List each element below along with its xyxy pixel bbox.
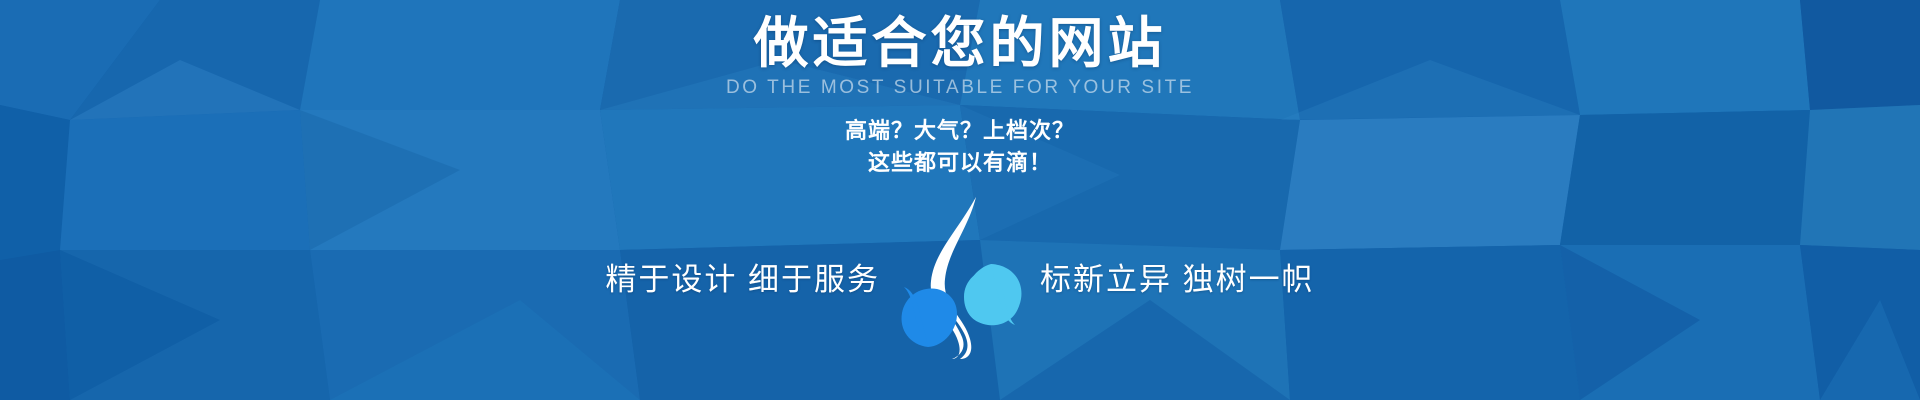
page-subtitle-english: DO THE MOST SUITABLE FOR YOUR SITE — [726, 77, 1194, 99]
hero-banner: 做适合您的网站 DO THE MOST SUITABLE FOR YOUR SI… — [0, 0, 1920, 400]
slogan-line-2: 这些都可以有滴！ — [845, 147, 1075, 179]
tagline-row: 精于设计 细于服务 标新立异 独树一帜 — [0, 201, 1920, 351]
banner-content: 做适合您的网站 DO THE MOST SUITABLE FOR YOUR SI… — [0, 0, 1920, 400]
slogan-line-1: 高端？大气？上档次？ — [845, 115, 1075, 147]
leaf-swirl-logo — [890, 201, 1030, 351]
slogan-block: 高端？大气？上档次？ 这些都可以有滴！ — [845, 115, 1075, 179]
page-title: 做适合您的网站 — [753, 14, 1166, 73]
tagline-left: 精于设计 细于服务 — [550, 254, 880, 299]
tagline-right: 标新立异 独树一帜 — [1040, 254, 1370, 299]
leaf-swirl-logo-icon — [890, 189, 1030, 359]
